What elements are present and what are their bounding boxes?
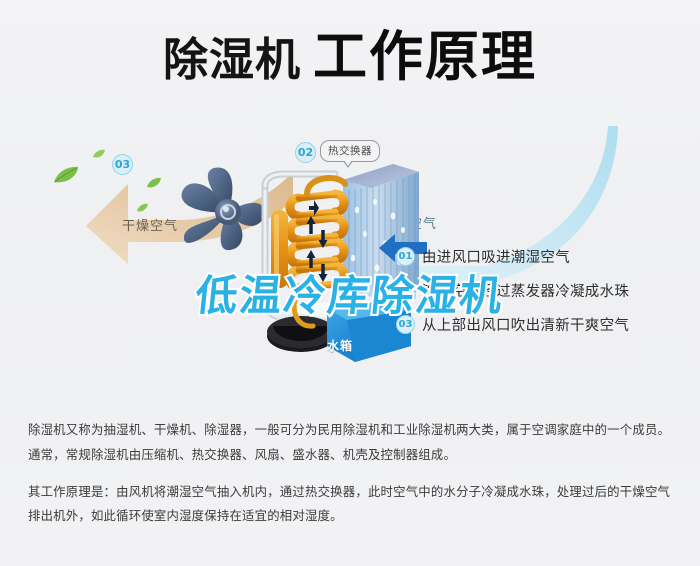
- steps-list: 01 由进风口吸进潮湿空气 02 潮湿空气经过蒸发器冷凝成水珠 03 从上部出风…: [396, 246, 686, 348]
- diagram-stage: 潮湿空气 干燥空气: [0, 128, 700, 390]
- diagram-badge-dry-air: 03: [112, 154, 133, 175]
- page-title: 除湿机 工作原理: [0, 30, 700, 84]
- leaf-icon: [52, 166, 80, 189]
- description-paragraph-2: 其工作原理是：由风机将潮湿空气抽入机内，通过热交换器，此时空气中的水分子冷凝成水…: [28, 480, 673, 530]
- water-tank-label: 水箱: [327, 337, 353, 354]
- step-number-badge: 03: [396, 315, 415, 334]
- description-paragraph-1: 除湿机又称为抽湿机、干燥机、除湿器，一般可分为民用除湿机和工业除湿机两大类，属于…: [28, 418, 673, 468]
- page-title-part1: 除湿机: [163, 37, 301, 82]
- leaf-icon: [92, 146, 106, 164]
- step-label: 由进风口吸进潮湿空气: [422, 246, 570, 267]
- step-number-badge: 01: [396, 247, 415, 266]
- step-label: 从上部出风口吹出清新干爽空气: [422, 314, 629, 335]
- infographic-page: 除湿机 工作原理 潮湿空气: [0, 0, 700, 566]
- step-number-badge: 02: [396, 281, 415, 300]
- step-item: 03 从上部出风口吹出清新干爽空气: [396, 314, 686, 335]
- page-title-part2: 工作原理: [313, 30, 537, 84]
- step-label: 潮湿空气经过蒸发器冷凝成水珠: [422, 280, 629, 301]
- description-block: 除湿机又称为抽湿机、干燥机、除湿器，一般可分为民用除湿机和工业除湿机两大类，属于…: [28, 418, 673, 529]
- step-item: 02 潮湿空气经过蒸发器冷凝成水珠: [396, 280, 686, 301]
- leaf-icon: [146, 176, 162, 194]
- step-item: 01 由进风口吸进潮湿空气: [396, 246, 686, 267]
- leaf-icon: [136, 200, 149, 218]
